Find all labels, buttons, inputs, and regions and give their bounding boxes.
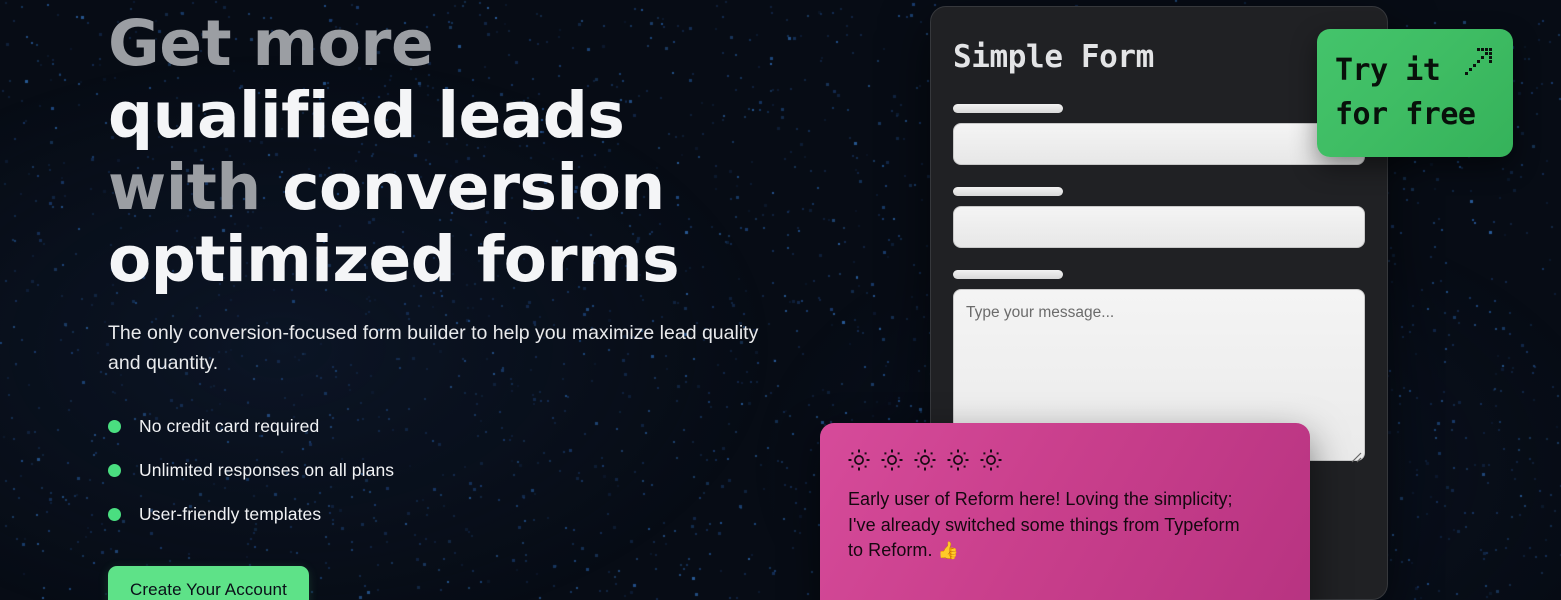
- feature-bullet-list: No credit card required Unlimited respon…: [108, 404, 808, 536]
- thumbs-up-emoji-icon: 👍: [938, 541, 959, 560]
- sparkle-star-icon: [914, 449, 936, 471]
- testimonial-card: Early user of Reform here! Loving the si…: [820, 423, 1310, 600]
- try-badge-line-2: for free: [1335, 93, 1495, 137]
- list-item: User-friendly templates: [108, 492, 808, 536]
- testimonial-quote-line-1: Early user of Reform here! Loving the si…: [848, 487, 1282, 513]
- bullet-dot-icon: [108, 464, 121, 477]
- testimonial-quote: Early user of Reform here! Loving the si…: [848, 487, 1282, 564]
- bullet-label: Unlimited responses on all plans: [139, 460, 394, 481]
- list-item: No credit card required: [108, 404, 808, 448]
- testimonial-quote-line-3: to Reform. 👍: [848, 538, 1282, 564]
- sparkle-star-icon: [881, 449, 903, 471]
- field-label-skeleton: [953, 270, 1063, 279]
- field-label-skeleton: [953, 104, 1063, 113]
- headline-line-3-bright: conversion: [282, 151, 665, 224]
- create-account-button[interactable]: Create Your Account: [108, 566, 309, 600]
- arrow-up-right-dotted-icon: [1463, 46, 1497, 78]
- form-text-input-2[interactable]: [953, 206, 1365, 248]
- field-label-skeleton: [953, 187, 1063, 196]
- form-text-input-1[interactable]: [953, 123, 1365, 165]
- testimonial-quote-line-3-text: to Reform.: [848, 540, 938, 560]
- bullet-dot-icon: [108, 508, 121, 521]
- page-stage: Get more qualified leads with conversion…: [0, 0, 1561, 600]
- bullet-dot-icon: [108, 420, 121, 433]
- headline-line-3: with conversion: [108, 152, 808, 224]
- sparkle-star-icon: [848, 449, 870, 471]
- rating-stars: [848, 449, 1282, 471]
- try-it-for-free-badge[interactable]: Try it for free: [1317, 29, 1513, 157]
- bullet-label: No credit card required: [139, 416, 319, 437]
- form-field-group-2: [953, 187, 1365, 248]
- hero-section: Get more qualified leads with conversion…: [108, 0, 808, 600]
- headline-line-1: Get more: [108, 8, 808, 80]
- sparkle-star-icon: [980, 449, 1002, 471]
- form-title: Simple Form: [953, 37, 1365, 77]
- headline-line-4: optimized forms: [108, 224, 808, 296]
- list-item: Unlimited responses on all plans: [108, 448, 808, 492]
- sparkle-star-icon: [947, 449, 969, 471]
- headline-line-2: qualified leads: [108, 80, 808, 152]
- bullet-label: User-friendly templates: [139, 504, 321, 525]
- testimonial-quote-line-2: I've already switched some things from T…: [848, 513, 1282, 539]
- form-field-group-1: [953, 104, 1365, 165]
- hero-subheadline: The only conversion-focused form builder…: [108, 318, 768, 378]
- page-title: Get more qualified leads with conversion…: [108, 8, 808, 296]
- headline-line-3-dim: with: [108, 151, 282, 224]
